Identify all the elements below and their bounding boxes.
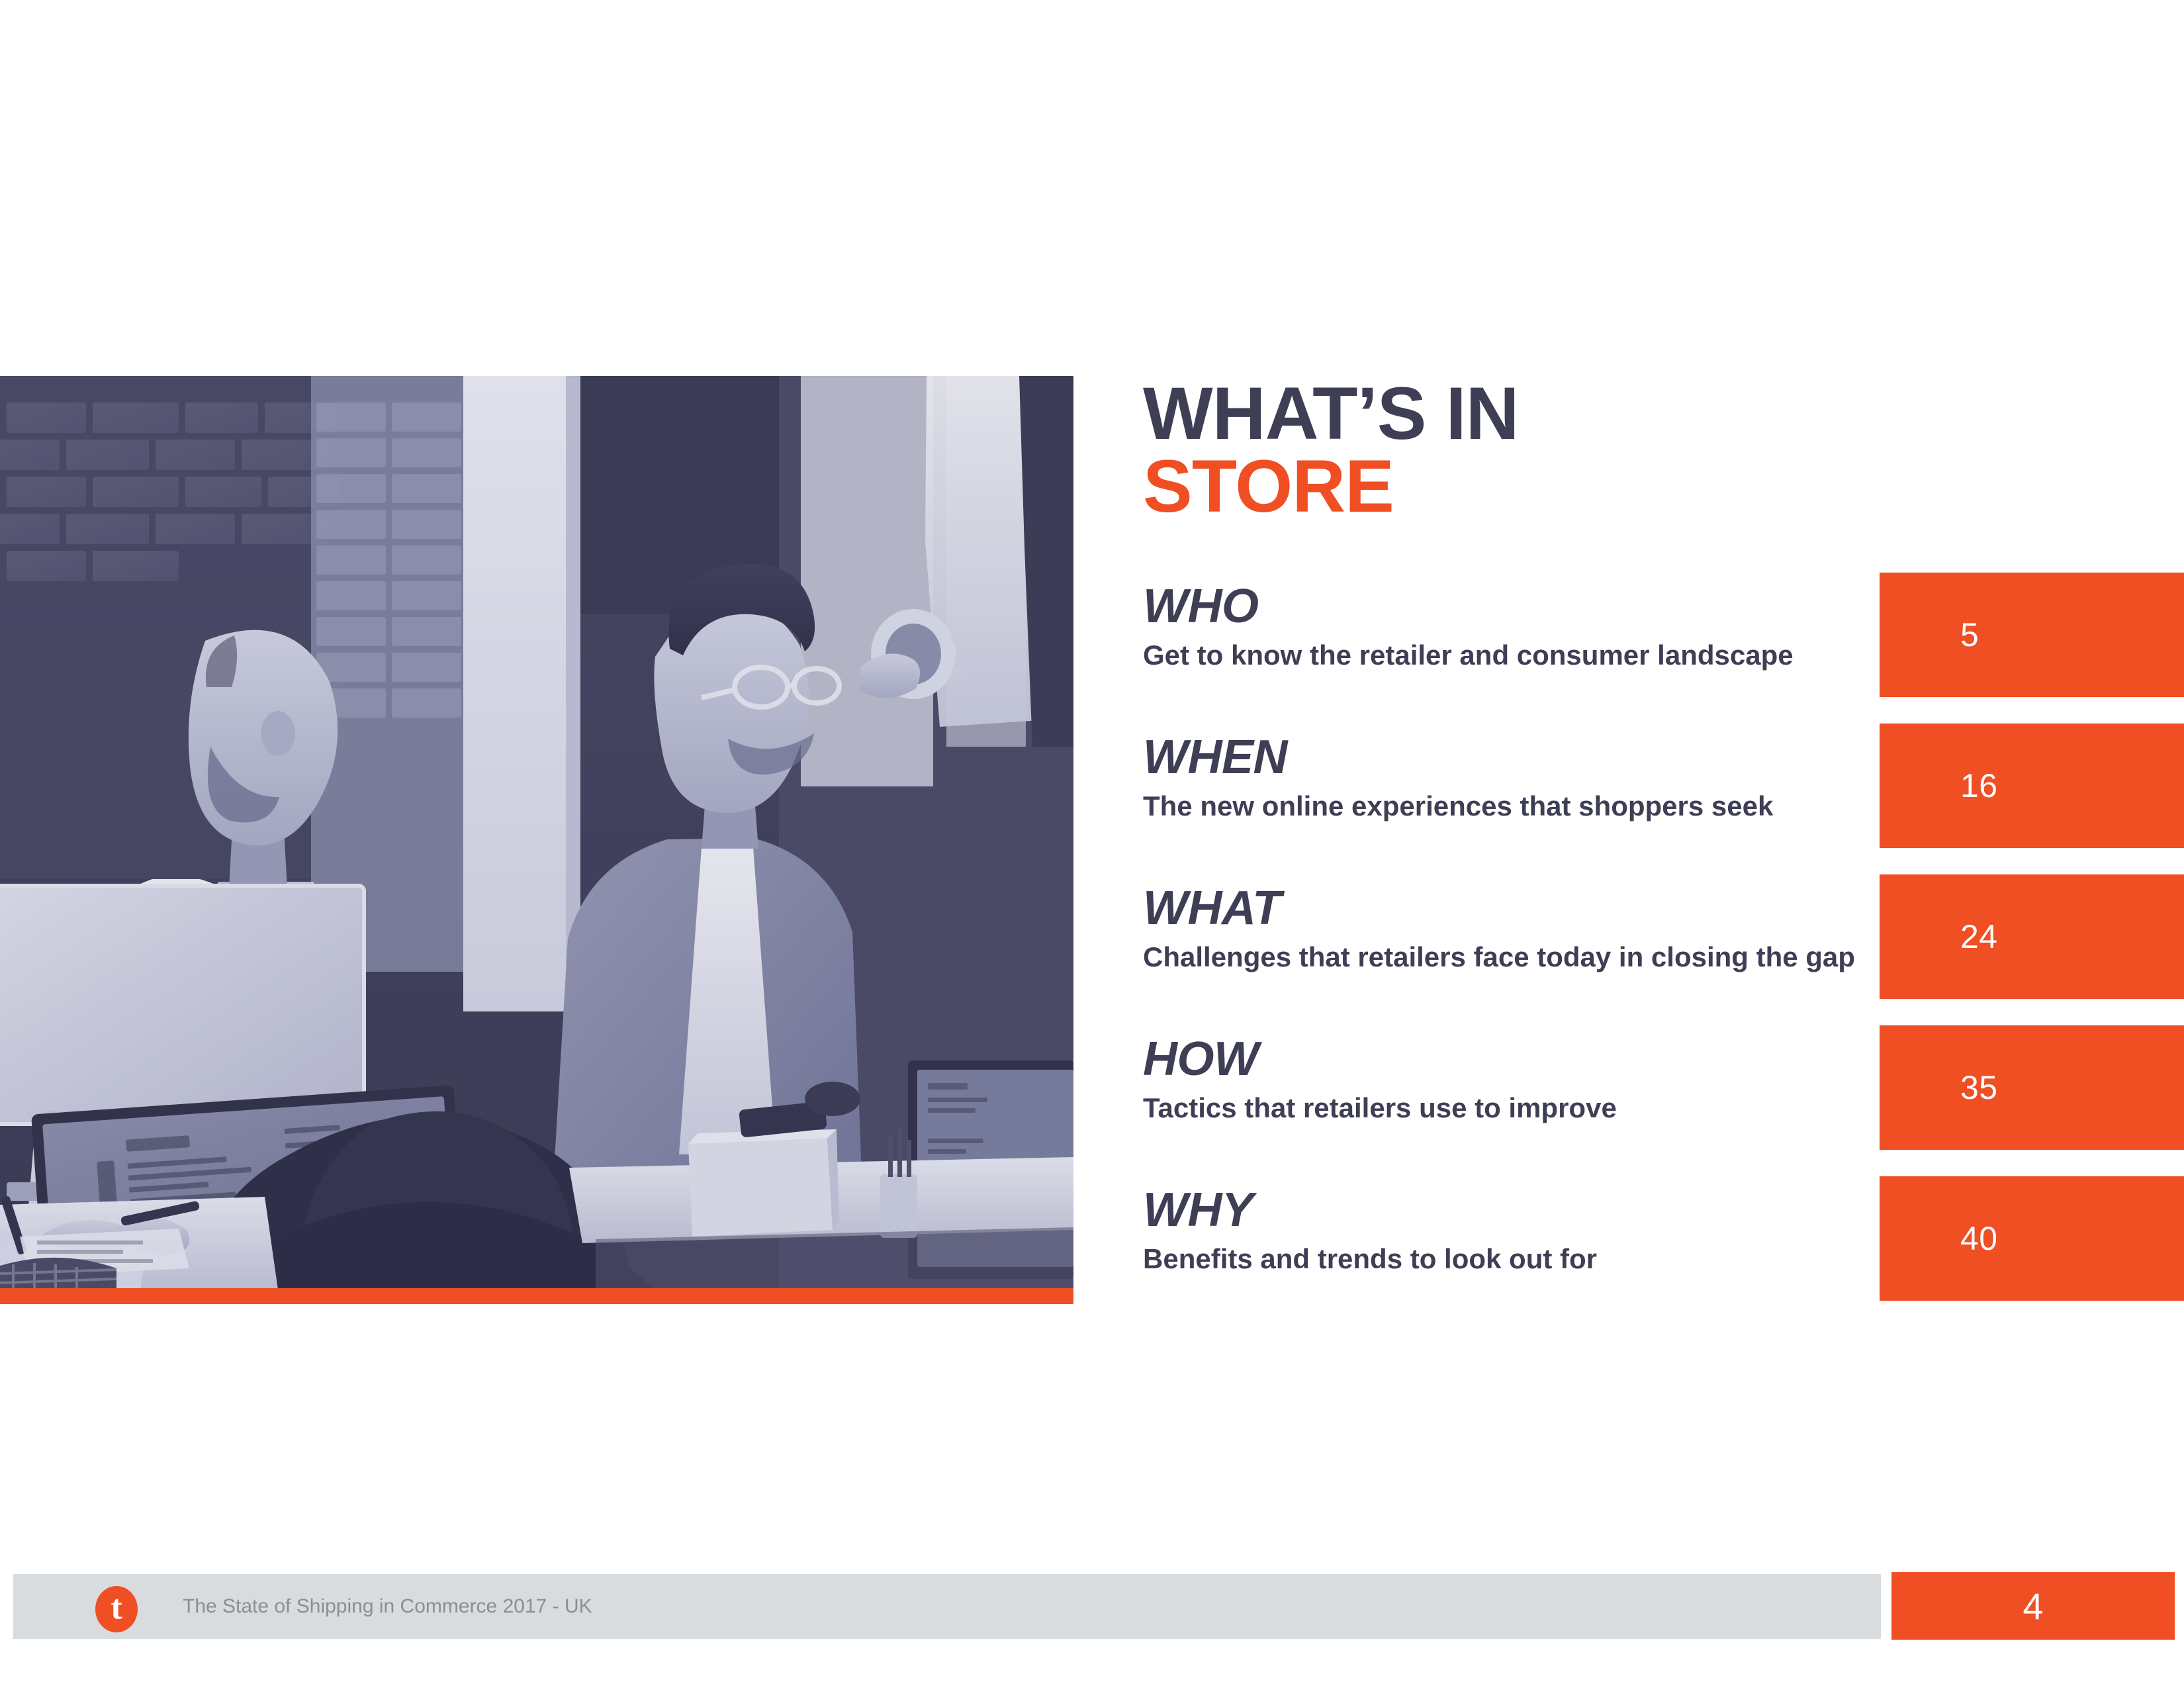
- slide-number: 4: [2023, 1585, 2043, 1628]
- footer-bar: t The State of Shipping in Commerce 2017…: [13, 1574, 1881, 1639]
- slide-number-box: 4: [1891, 1572, 2175, 1640]
- footer-caption: The State of Shipping in Commerce 2017 -…: [183, 1595, 592, 1618]
- page-ref-number: 16: [1960, 767, 1998, 805]
- agenda-description: Challenges that retailers face today in …: [1143, 943, 1937, 972]
- agenda-description: The new online experiences that shoppers…: [1143, 792, 1937, 821]
- title-line-1: WHAT’S IN: [1143, 377, 2109, 450]
- agenda-item-why[interactable]: WHY Benefits and trends to look out for: [1143, 1186, 1937, 1337]
- agenda-key: WHO: [1143, 583, 1937, 630]
- page-reference-bars: 5 16 24 35 40: [1880, 573, 2184, 1327]
- agenda-item-what[interactable]: WHAT Challenges that retailers face toda…: [1143, 884, 1937, 1035]
- page-ref-number: 24: [1960, 917, 1998, 956]
- page-ref-why[interactable]: 40: [1880, 1176, 2184, 1301]
- agenda-item-how[interactable]: HOW Tactics that retailers use to improv…: [1143, 1035, 1937, 1186]
- page-ref-who[interactable]: 5: [1880, 573, 2184, 697]
- agenda-key: WHY: [1143, 1186, 1937, 1234]
- agenda-description: Tactics that retailers use to improve: [1143, 1094, 1937, 1123]
- agenda-description: Get to know the retailer and consumer la…: [1143, 641, 1937, 670]
- page-ref-what[interactable]: 24: [1880, 874, 2184, 999]
- page-ref-number: 35: [1960, 1068, 1998, 1107]
- hero-photo-panel: [0, 376, 1073, 1304]
- agenda-item-who[interactable]: WHO Get to know the retailer and consume…: [1143, 583, 1937, 733]
- page-ref-number: 5: [1960, 616, 1979, 654]
- brand-logo-letter: t: [111, 1591, 122, 1625]
- photo-accent-bar: [0, 1288, 1073, 1304]
- agenda-key: WHAT: [1143, 884, 1937, 932]
- agenda-item-when[interactable]: WHEN The new online experiences that sho…: [1143, 733, 1937, 884]
- page-ref-number: 40: [1960, 1219, 1998, 1258]
- page-title: WHAT’S IN STORE: [1143, 377, 2109, 523]
- page-ref-how[interactable]: 35: [1880, 1025, 2184, 1150]
- page-ref-when[interactable]: 16: [1880, 724, 2184, 848]
- title-section: WHAT’S IN STORE: [1143, 377, 2109, 523]
- agenda-list: WHO Get to know the retailer and consume…: [1143, 583, 1937, 1337]
- office-team-photo: [0, 376, 1073, 1289]
- agenda-key: WHEN: [1143, 733, 1937, 781]
- brand-logo-icon: t: [95, 1586, 138, 1632]
- agenda-key: HOW: [1143, 1035, 1937, 1083]
- agenda-description: Benefits and trends to look out for: [1143, 1244, 1937, 1274]
- title-line-2: STORE: [1143, 450, 2109, 523]
